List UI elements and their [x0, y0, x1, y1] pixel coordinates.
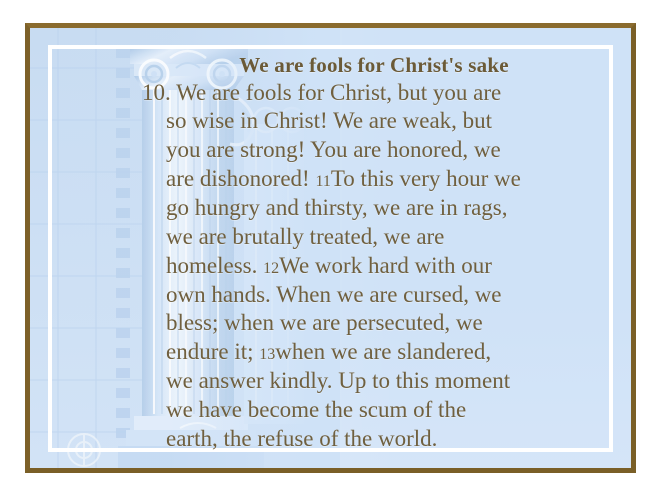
body-line-text: bless; when we are persecuted, we	[166, 310, 483, 335]
body-line: endure it; 13when we are slandered,	[142, 338, 612, 367]
slide-title: We are fools for Christ's sake	[142, 54, 612, 78]
body-line-text-after: To this very hour we	[331, 166, 521, 191]
body-line-text: we have become the scum of the	[166, 397, 466, 422]
body-line-text: homeless.	[166, 253, 263, 278]
slide-canvas: We are fools for Christ's sake 10. We ar…	[0, 0, 660, 495]
body-line: so wise in Christ! We are weak, but	[142, 107, 612, 136]
slide-outer-frame: We are fools for Christ's sake 10. We ar…	[25, 23, 636, 473]
body-line-text: earth, the refuse of the world.	[166, 426, 437, 451]
body-line: go hungry and thirsty, we are in rags,	[142, 194, 612, 223]
body-line: you are strong! You are honored, we	[142, 136, 612, 165]
slide-body: 10. We are fools for Christ, but you are…	[142, 79, 612, 454]
body-line: we are brutally treated, we are	[142, 223, 612, 252]
body-line-text: go hungry and thirsty, we are in rags,	[166, 195, 508, 220]
slide-text-block: We are fools for Christ's sake 10. We ar…	[142, 54, 612, 454]
body-line-text: endure it;	[166, 339, 259, 364]
body-line: 10. We are fools for Christ, but you are	[142, 79, 612, 108]
body-line-text: we are brutally treated, we are	[166, 224, 444, 249]
body-line: own hands. When we are cursed, we	[142, 281, 612, 310]
body-line-text: are dishonored!	[166, 166, 315, 191]
body-line: we answer kindly. Up to this moment	[142, 367, 612, 396]
body-line: are dishonored! 11To this very hour we	[142, 165, 612, 194]
body-line-text: we answer kindly. Up to this moment	[166, 368, 510, 393]
verse-number-13: 13	[259, 346, 275, 363]
verse-number-10: 10.	[142, 80, 171, 105]
body-line: we have become the scum of the	[142, 396, 612, 425]
body-line-text: you are strong! You are honored, we	[166, 137, 501, 162]
body-line-text: so wise in Christ! We are weak, but	[166, 108, 492, 133]
verse-number-12: 12	[263, 260, 279, 277]
body-line-text: We are fools for Christ, but you are	[171, 80, 502, 105]
body-line-text-after: when we are slandered,	[275, 339, 491, 364]
body-line-text-after: We work hard with our	[279, 253, 492, 278]
body-line: bless; when we are persecuted, we	[142, 309, 612, 338]
body-line: homeless. 12We work hard with our	[142, 252, 612, 281]
verse-number-11: 11	[315, 173, 330, 190]
body-line-text: own hands. When we are cursed, we	[166, 282, 502, 307]
body-line: earth, the refuse of the world.	[142, 425, 612, 454]
